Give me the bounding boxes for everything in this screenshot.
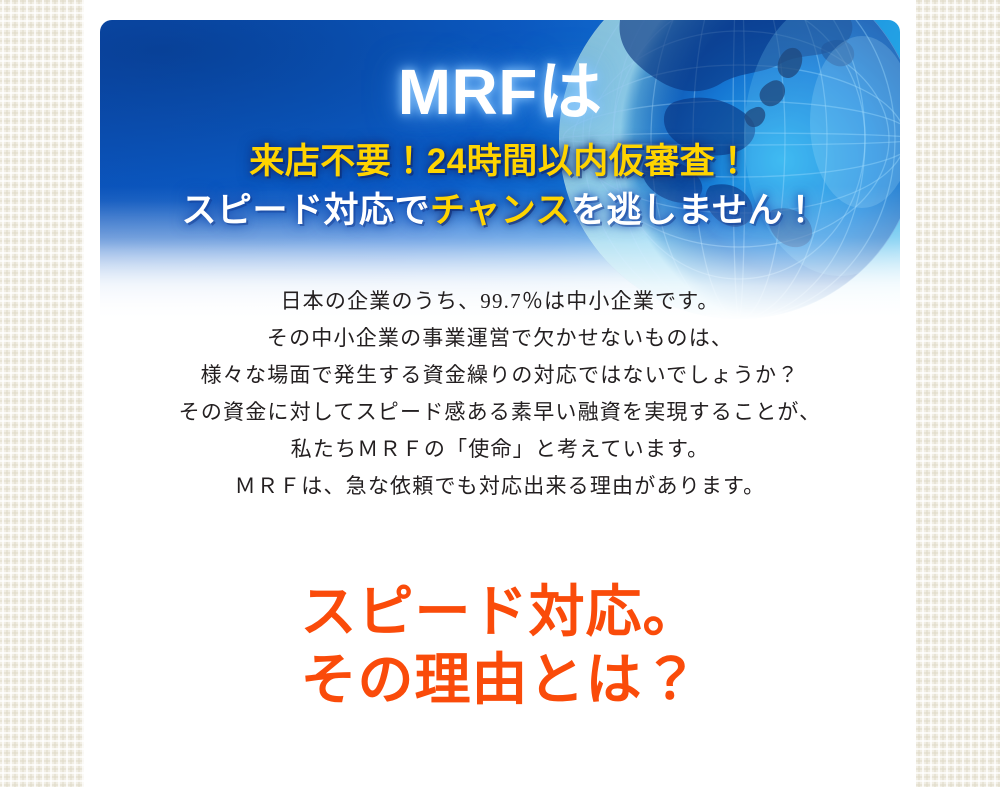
closing-headline-line-1: スピード対応。 bbox=[84, 578, 916, 646]
hero-text-block: MRFは 来店不要！24時間以内仮審査！ スピード対応でチャンスを逃しません！ bbox=[100, 20, 900, 322]
page-card: MRFは 来店不要！24時間以内仮審査！ スピード対応でチャンスを逃しません！ … bbox=[84, 0, 916, 787]
body-line: ＭＲＦは、急な依頼でも対応出来る理由があります。 bbox=[84, 468, 916, 505]
body-copy: 日本の企業のうち、99.7％は中小企業です。 その中小企業の事業運営で欠かせない… bbox=[84, 283, 916, 505]
body-line: その中小企業の事業運営で欠かせないものは、 bbox=[84, 320, 916, 357]
hero-subtitle-part-1: スピード対応で bbox=[182, 191, 431, 230]
page-title: MRFは bbox=[100, 20, 900, 124]
body-line: 様々な場面で発生する資金繰りの対応ではないでしょうか？ bbox=[84, 357, 916, 394]
hero-subtitle-line-1: 来店不要！24時間以内仮審査！ bbox=[100, 124, 900, 185]
body-line: 私たちＭＲＦの「使命」と考えています。 bbox=[84, 431, 916, 468]
closing-headline-line-2: その理由とは？ bbox=[84, 646, 916, 714]
hero-subtitle-highlight: チャンス bbox=[430, 191, 571, 230]
closing-headline: スピード対応。 その理由とは？ bbox=[84, 578, 916, 714]
body-line: 日本の企業のうち、99.7％は中小企業です。 bbox=[84, 283, 916, 320]
hero-subtitle-line-2: スピード対応でチャンスを逃しません！ bbox=[100, 185, 900, 234]
body-line: その資金に対してスピード感ある素早い融資を実現することが、 bbox=[84, 394, 916, 431]
hero-subtitle-part-2: を逃しません！ bbox=[571, 191, 818, 230]
hero-banner: MRFは 来店不要！24時間以内仮審査！ スピード対応でチャンスを逃しません！ bbox=[100, 20, 900, 322]
